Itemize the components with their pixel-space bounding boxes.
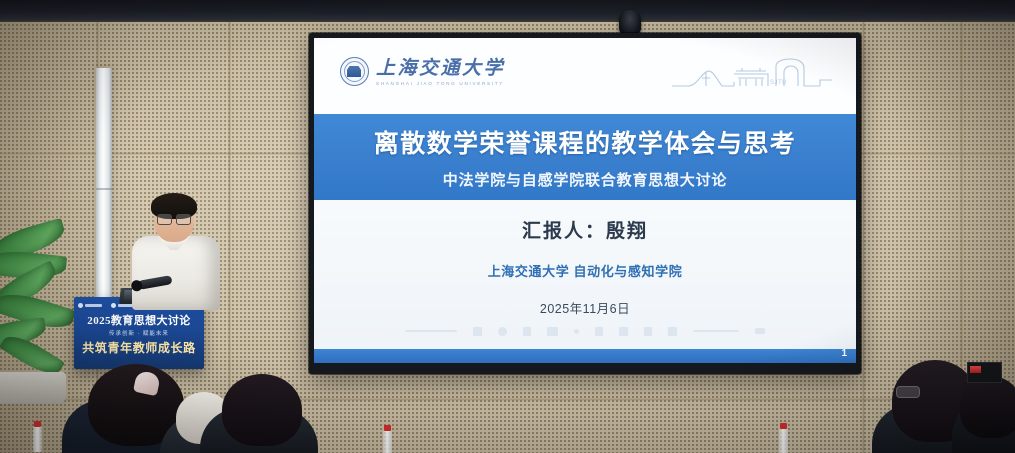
presentation-display: 上海交通大学 SHANGHAI JIAO TONG UNIVERSITY bbox=[309, 33, 861, 374]
water-bottle bbox=[383, 430, 392, 453]
podium-slogan: 共筑青年教师成长路 bbox=[74, 339, 204, 356]
audience-glasses-icon bbox=[896, 386, 920, 398]
sjtu-seal-icon bbox=[340, 57, 369, 86]
lecture-hall-screenshot: 上海交通大学 SHANGHAI JIAO TONG UNIVERSITY bbox=[0, 0, 1015, 453]
audience-member-5-head bbox=[960, 376, 1015, 438]
podium-headline: 2025教育思想大讨论 bbox=[74, 312, 204, 328]
slide-page-number: 1 bbox=[841, 348, 847, 359]
presenter-organization: 上海交通大学 自动化与感知学院 bbox=[488, 261, 683, 280]
wall-monitor bbox=[967, 362, 1002, 383]
slide-title-band: 离散数学荣誉课程的教学体会与思考 中法学院与自感学院联合教育思想大讨论 bbox=[314, 114, 856, 200]
wall-seam bbox=[862, 20, 865, 453]
skyline-label: SJTU bbox=[770, 80, 787, 86]
water-bottle bbox=[33, 426, 42, 452]
plant-pot bbox=[0, 372, 66, 404]
university-logo: 上海交通大学 SHANGHAI JIAO TONG UNIVERSITY bbox=[340, 57, 505, 86]
campus-skyline-icon: SJTU bbox=[672, 58, 832, 92]
glasses-icon bbox=[157, 214, 191, 223]
slide-header: 上海交通大学 SHANGHAI JIAO TONG UNIVERSITY bbox=[314, 38, 856, 114]
ceiling-strip bbox=[0, 0, 1015, 22]
university-name-cn: 上海交通大学 bbox=[376, 59, 505, 78]
presenter-block: 汇报人：殷翔 上海交通大学 自动化与感知学院 2025年11月6日 bbox=[314, 216, 856, 317]
audience-member-3-head bbox=[222, 374, 302, 446]
speaker-person bbox=[128, 196, 224, 308]
slide-watermark bbox=[314, 325, 856, 337]
water-bottle bbox=[779, 428, 788, 453]
podium-tagline: 传承创新 · 赋能未来 bbox=[74, 329, 204, 337]
slide-subtitle: 中法学院与自感学院联合教育思想大讨论 bbox=[443, 169, 727, 190]
slide-canvas: 上海交通大学 SHANGHAI JIAO TONG UNIVERSITY bbox=[314, 38, 856, 363]
slide-footer-bar: 1 bbox=[314, 349, 856, 363]
presenter-name: 汇报人：殷翔 bbox=[522, 216, 648, 243]
presentation-date: 2025年11月6日 bbox=[540, 298, 630, 317]
slide-title: 离散数学荣誉课程的教学体会与思考 bbox=[374, 124, 796, 160]
university-name-en: SHANGHAI JIAO TONG UNIVERSITY bbox=[376, 81, 504, 86]
